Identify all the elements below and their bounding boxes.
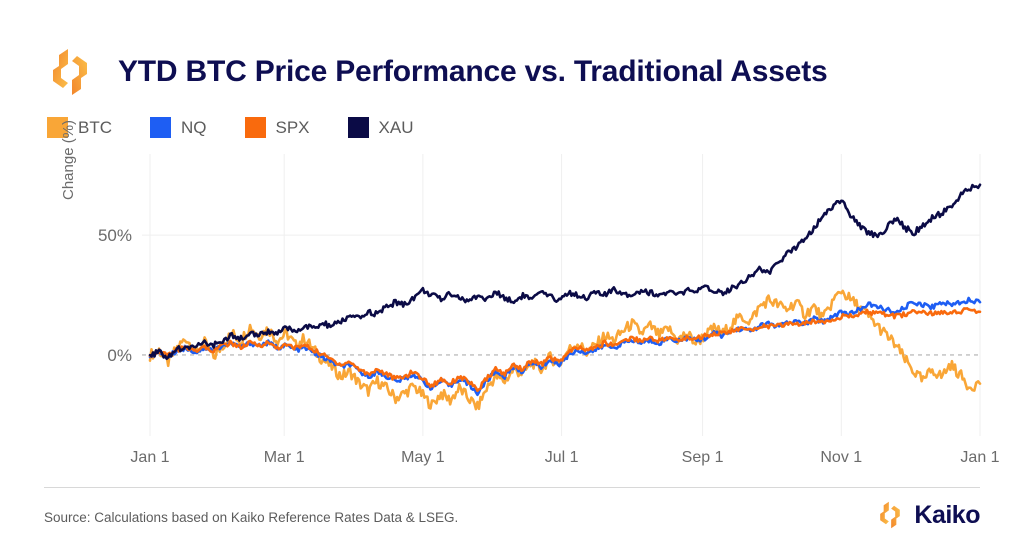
chart-plot-area: 0%50% Jan 1Mar 1May 1Jul 1Sep 1Nov 1Jan … [0, 150, 1024, 480]
legend-item-btc[interactable]: BTC [47, 117, 112, 138]
header: YTD BTC Price Performance vs. Traditiona… [44, 46, 828, 98]
series-line-btc [150, 291, 980, 409]
page-title: YTD BTC Price Performance vs. Traditiona… [118, 57, 828, 87]
x-tick-label-6: Jan 1 [960, 449, 999, 466]
kaiko-logo-icon [44, 46, 96, 98]
source-note: Source: Calculations based on Kaiko Refe… [44, 511, 458, 525]
legend-label-spx: SPX [276, 119, 310, 136]
brand-wordmark: Kaiko [914, 503, 980, 528]
legend-swatch-spx [245, 117, 266, 138]
y-tick-label-0: 0% [107, 346, 132, 365]
legend-label-nq: NQ [181, 119, 207, 136]
x-tick-labels: Jan 1Mar 1May 1Jul 1Sep 1Nov 1Jan 1 [130, 449, 999, 466]
x-tick-label-2: May 1 [401, 449, 445, 466]
grid-lines [142, 154, 980, 436]
chart-page: YTD BTC Price Performance vs. Traditiona… [0, 0, 1024, 559]
series-line-spx [150, 308, 980, 390]
series-lines [150, 185, 980, 409]
x-tick-label-5: Nov 1 [820, 449, 862, 466]
y-tick-label-1: 50% [98, 226, 132, 245]
legend-label-xau: XAU [379, 119, 414, 136]
legend-label-btc: BTC [78, 119, 112, 136]
x-tick-label-4: Sep 1 [682, 449, 724, 466]
x-tick-label-0: Jan 1 [130, 449, 169, 466]
legend-item-nq[interactable]: NQ [150, 117, 207, 138]
kaiko-logo-icon [875, 500, 905, 530]
legend-item-xau[interactable]: XAU [348, 117, 414, 138]
legend-swatch-xau [348, 117, 369, 138]
legend-item-spx[interactable]: SPX [245, 117, 310, 138]
chart-legend: BTC NQ SPX XAU [47, 117, 452, 138]
x-tick-label-1: Mar 1 [264, 449, 305, 466]
series-line-xau [150, 185, 980, 359]
footer-divider [44, 487, 980, 488]
x-tick-label-3: Jul 1 [545, 449, 579, 466]
legend-swatch-nq [150, 117, 171, 138]
y-tick-labels: 0%50% [98, 226, 132, 365]
footer-brand: Kaiko [875, 500, 980, 530]
